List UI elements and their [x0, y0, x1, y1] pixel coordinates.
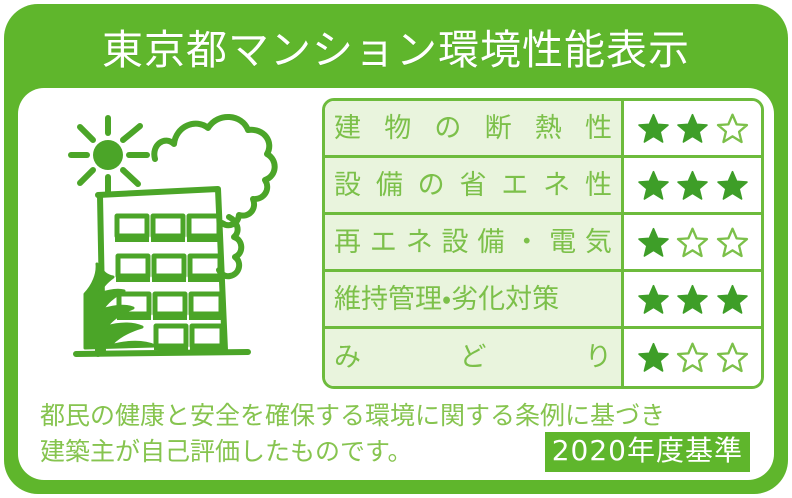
footer-disclaimer: 都民の健康と安全を確保する環境に関する条例に基づき 建築主が自己評価したものです…	[40, 400, 756, 476]
star-filled-icon	[716, 169, 749, 202]
star-filled-icon	[637, 112, 670, 145]
environmental-performance-label: 東京都マンション環境性能表示	[0, 0, 792, 498]
footer-line-2: 建築主が自己評価したものです。	[40, 436, 413, 468]
label-char: エ	[370, 229, 397, 256]
label-char: 省	[459, 172, 486, 199]
rating-label-renewable-energy-electricity: 再エネ設備・電気	[325, 215, 624, 269]
footer-line-1: 都民の健康と安全を確保する環境に関する条例に基づき	[40, 400, 756, 432]
label-char: 物	[384, 115, 411, 142]
rating-label-maintenance-deterioration: 維持管理・劣化対策	[325, 272, 624, 326]
label-char: 設	[334, 172, 361, 199]
label-char: ネ	[406, 229, 433, 256]
label-char: 設	[442, 229, 469, 256]
label-char: 備	[376, 172, 403, 199]
label-char: 備	[477, 229, 504, 256]
star-empty-icon	[716, 341, 749, 374]
star-filled-icon	[676, 169, 709, 202]
star-empty-icon	[676, 226, 709, 259]
label-char: ネ	[543, 172, 570, 199]
star-filled-icon	[637, 226, 670, 259]
star-empty-icon	[716, 112, 749, 145]
label-char: の	[434, 115, 461, 142]
ratings-table: 建物の断熱性 設備の省エネ性	[322, 98, 764, 389]
rating-label-insulation: 建物の断熱性	[325, 101, 624, 155]
label-char: 建	[334, 115, 361, 142]
star-filled-icon	[676, 283, 709, 316]
label-char: エ	[501, 172, 528, 199]
table-row: みどり	[325, 329, 761, 386]
outer-green-frame: 東京都マンション環境性能表示	[4, 4, 788, 494]
label-char: ど	[460, 344, 487, 371]
label-char: 再	[334, 229, 361, 256]
star-filled-icon	[676, 112, 709, 145]
rating-stars-maintenance-deterioration	[624, 272, 761, 326]
label-char: 断	[485, 115, 512, 142]
header-band: 東京都マンション環境性能表示	[4, 4, 788, 96]
footer-line-2-row: 建築主が自己評価したものです。 2020年度基準	[40, 432, 756, 472]
star-filled-icon	[716, 283, 749, 316]
rating-stars-greenery	[624, 329, 761, 386]
star-empty-icon	[676, 341, 709, 374]
label-char: 気	[585, 229, 612, 256]
rating-label-equipment-energy-saving: 設備の省エネ性	[325, 158, 624, 212]
table-row: 設備の省エネ性	[325, 158, 761, 215]
label-char: 性	[585, 172, 612, 199]
label-char: 性	[585, 115, 612, 142]
label-char: ・	[513, 229, 540, 256]
label-char: 電	[549, 229, 576, 256]
rating-label-greenery: みどり	[325, 329, 624, 386]
rating-stars-renewable-energy-electricity	[624, 215, 761, 269]
inner-white-panel: 建物の断熱性 設備の省エネ性	[18, 88, 774, 480]
sun-icon	[71, 118, 147, 194]
label-char: の	[418, 172, 445, 199]
table-row: 建物の断熱性	[325, 101, 761, 158]
table-row: 維持管理・劣化対策	[325, 272, 761, 329]
star-empty-icon	[716, 226, 749, 259]
tree-icon	[154, 117, 274, 276]
building-sun-tree-illustration	[52, 104, 320, 396]
page-title: 東京都マンション環境性能表示	[102, 30, 690, 71]
standard-year-badge: 2020年度基準	[545, 432, 750, 472]
label-char: み	[334, 344, 361, 371]
label-char: 熱	[535, 115, 562, 142]
table-row: 再エネ設備・電気	[325, 215, 761, 272]
rating-stars-insulation	[624, 101, 761, 155]
star-filled-icon	[637, 341, 670, 374]
star-filled-icon	[637, 169, 670, 202]
star-filled-icon	[637, 283, 670, 316]
label-char: り	[585, 344, 612, 371]
rating-stars-equipment-energy-saving	[624, 158, 761, 212]
